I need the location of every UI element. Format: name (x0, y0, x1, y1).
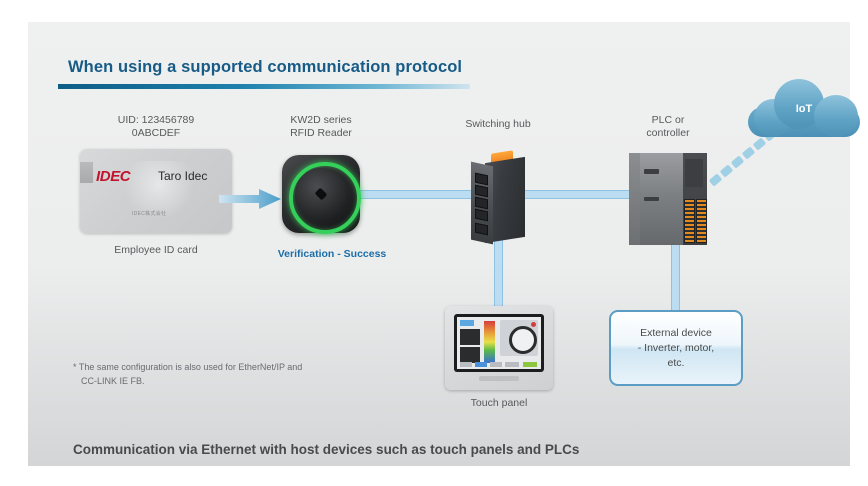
external-device-box: External device - Inverter, motor, etc. (609, 310, 743, 386)
plc-terminal-block (684, 199, 695, 243)
cloud-link-dash (753, 137, 767, 150)
hmi-alarm-lamp (531, 322, 536, 327)
page-title: When using a supported communication pro… (68, 58, 462, 77)
cloud-link-dash (720, 164, 734, 177)
touch-panel-device (445, 306, 553, 390)
idec-logo: IDEC (96, 168, 130, 185)
plc-module (629, 153, 640, 245)
cable-plc-to-external-device (671, 240, 680, 312)
hmi-bargraph (484, 321, 495, 363)
external-device-line-1: External device (638, 326, 714, 341)
plc-label-1: PLC or (619, 114, 717, 127)
footnote: * The same configuration is also used fo… (73, 360, 302, 388)
external-device-line-2: - Inverter, motor, (638, 341, 714, 356)
hmi-widget (460, 347, 480, 363)
footnote-line-1: * The same configuration is also used fo… (73, 360, 302, 374)
cloud-link-dash (709, 173, 723, 186)
plc-terminal-block (696, 199, 707, 243)
iot-cloud: IoT (744, 77, 864, 139)
touch-panel-label: Touch panel (438, 397, 560, 410)
employee-id-card: IDEC Taro Idec IDEC株式会社 (80, 149, 232, 233)
rfid-reader-label-1: KW2D series (282, 114, 360, 127)
hmi-button (490, 362, 502, 367)
cable-reader-to-hub (358, 190, 476, 199)
plc-display-window (685, 159, 703, 187)
title-accent-bar (58, 84, 470, 89)
hmi-button (460, 362, 472, 367)
touch-panel-screen (457, 317, 541, 369)
external-device-text: External device - Inverter, motor, etc. (638, 326, 714, 371)
touch-panel-logo-plate (479, 376, 519, 381)
bottom-caption: Communication via Ethernet with host dev… (73, 442, 579, 457)
diagram-stage: When using a supported communication pro… (0, 0, 868, 486)
hmi-gauge-dial (509, 326, 537, 354)
hmi-widget (460, 329, 480, 345)
card-holder-name: Taro Idec (158, 169, 207, 183)
scan-arrow-icon (219, 188, 281, 210)
cloud-link-dash (731, 155, 745, 168)
touch-panel-bezel (454, 314, 544, 372)
cloud-puff (814, 95, 858, 137)
plc-slot (644, 197, 659, 201)
switching-hub-device (471, 152, 525, 240)
plc-module (663, 153, 683, 245)
hmi-button (505, 362, 519, 367)
plc-slot (644, 169, 659, 174)
content-panel: When using a supported communication pro… (28, 22, 850, 466)
card-fine-print: IDEC株式会社 (132, 210, 166, 217)
verification-status-text: Verification - Success (266, 248, 398, 260)
uid-line-1: UID: 123456789 (80, 114, 232, 127)
switching-hub-label: Switching hub (440, 118, 556, 131)
hmi-button (475, 362, 487, 367)
plc-controller-device (629, 153, 707, 245)
uid-line-2: 0ABCDEF (80, 127, 232, 140)
rfid-reader-device (282, 155, 360, 233)
plc-label-2: controller (619, 127, 717, 140)
card-chip (80, 162, 93, 183)
rfid-reader-label-2: RFID Reader (282, 127, 360, 140)
cloud-link-dash (742, 146, 756, 159)
employee-id-card-label: Employee ID card (80, 244, 232, 257)
footnote-line-2: CC-LINK IE FB. (73, 374, 302, 388)
cable-hub-to-touch-panel (494, 236, 503, 310)
cable-hub-to-plc (520, 190, 638, 199)
iot-cloud-label: IoT (744, 103, 864, 115)
external-device-line-3: etc. (638, 356, 714, 371)
hmi-widget (460, 320, 474, 326)
hmi-button (523, 362, 537, 367)
